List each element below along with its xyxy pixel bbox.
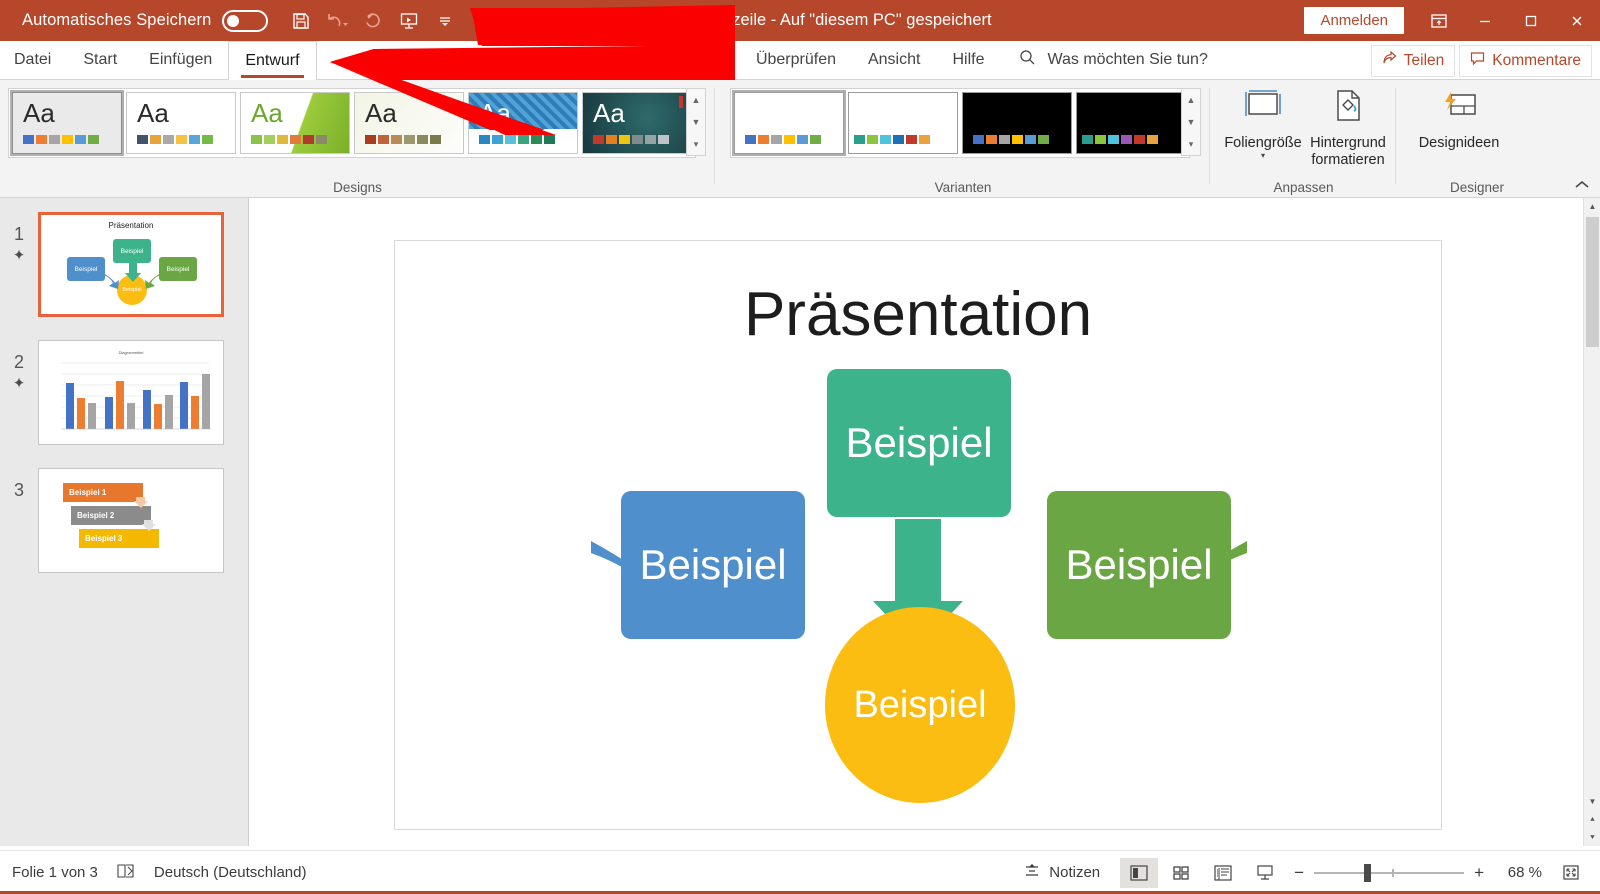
theme-aa-4: Aa: [479, 98, 511, 129]
spellcheck-icon[interactable]: [116, 862, 136, 884]
thumb2-chart: [39, 341, 224, 445]
normal-view-button[interactable]: [1120, 858, 1158, 888]
variant-thumb-3[interactable]: [1076, 92, 1186, 154]
language-indicator[interactable]: Deutsch (Deutschland): [154, 864, 307, 881]
minimize-icon[interactable]: [1462, 0, 1508, 41]
slide-size-icon: [1241, 86, 1285, 131]
thumb1-arrows: [41, 215, 224, 317]
variants-more-icon[interactable]: ▾: [1189, 133, 1194, 155]
autosave-toggle[interactable]: [222, 10, 268, 32]
ribbon-group-anpassen: Foliengröße ▾ Hintergrund formatieren An…: [1211, 80, 1396, 198]
redo-icon[interactable]: [356, 5, 390, 37]
comments-button[interactable]: Kommentare: [1459, 45, 1592, 77]
autosave-label: Automatisches Speichern: [22, 11, 211, 30]
format-background-label: Hintergrund formatieren: [1305, 135, 1391, 169]
slide-thumbnail-panel[interactable]: 1 ✦ Präsentation Beispiel Beispiel Beisp…: [0, 198, 249, 846]
tab-datei[interactable]: Datei: [0, 41, 67, 80]
theme-aa-3: Aa: [365, 98, 397, 129]
format-background-button[interactable]: Hintergrund formatieren: [1305, 86, 1391, 169]
slide-thumbnail-3[interactable]: Beispiel 1 Beispiel 2 Beispiel 3: [38, 468, 224, 573]
notes-button[interactable]: Notizen: [1023, 863, 1100, 883]
slide-shape-left[interactable]: Beispiel: [621, 491, 805, 639]
group-label-designs: Designs: [0, 180, 715, 195]
powerpoint-window: Automatisches Speichern pp-kopf-und-fuss…: [0, 0, 1600, 894]
slide-number-2: 2 ✦: [0, 340, 38, 445]
theme-swatches-5: [593, 135, 669, 144]
reading-view-button[interactable]: [1204, 858, 1242, 888]
thumb3-arrows: [39, 469, 224, 573]
tab-start[interactable]: Start: [67, 41, 133, 80]
scroll-up-icon[interactable]: ▲: [1584, 198, 1600, 215]
tab-ansicht[interactable]: Ansicht: [852, 41, 936, 80]
variant-thumb-2[interactable]: [962, 92, 1072, 154]
zoom-slider-handle[interactable]: [1364, 864, 1371, 882]
status-bar: Folie 1 von 3 Deutsch (Deutschland) Noti…: [0, 850, 1600, 894]
tab-uebergaenge-animationen[interactable]: ion: [687, 41, 740, 80]
zoom-slider[interactable]: [1314, 864, 1464, 882]
group-label-anpassen: Anpassen: [1211, 180, 1396, 195]
zoom-in-button[interactable]: +: [1474, 863, 1484, 883]
notes-label: Notizen: [1049, 864, 1100, 881]
design-ideas-icon: [1437, 86, 1481, 131]
collapse-ribbon-icon[interactable]: [1574, 178, 1590, 193]
title-bar: Automatisches Speichern pp-kopf-und-fuss…: [0, 0, 1600, 41]
slide-list-item-3[interactable]: 3 Beispiel 1 Beispiel 2 Beispiel 3: [0, 468, 249, 573]
theme-swatches-2: [251, 135, 327, 144]
tab-entwurf[interactable]: Entwurf: [228, 41, 316, 80]
themes-scroll-down-icon[interactable]: ▼: [692, 111, 701, 133]
share-button[interactable]: Teilen: [1371, 45, 1456, 77]
ribbon-group-varianten: ▲ ▼ ▾ Varianten: [716, 80, 1210, 198]
slideshow-button[interactable]: [1246, 858, 1284, 888]
theme-aa-2: Aa: [251, 98, 283, 129]
theme-swatches-3: [365, 135, 441, 144]
next-slide-icon[interactable]: ⯆: [1584, 829, 1600, 846]
design-ideas-label: Designideen: [1419, 135, 1500, 152]
tab-hilfe[interactable]: Hilfe: [936, 41, 1000, 80]
slide-size-label: Foliengröße: [1224, 135, 1301, 152]
previous-slide-icon[interactable]: ⯅: [1584, 811, 1600, 828]
quick-access-toolbar: [284, 5, 462, 37]
scrollbar-thumb[interactable]: [1586, 217, 1599, 347]
fit-to-window-button[interactable]: [1552, 858, 1590, 888]
slide-list-item-2[interactable]: 2 ✦ Diagrammtitel: [0, 340, 249, 445]
variants-scroll-down-icon[interactable]: ▼: [1187, 111, 1196, 133]
slide-sorter-button[interactable]: [1162, 858, 1200, 888]
current-slide[interactable]: Präsentation Beispiel Beispiel Beispiel …: [394, 240, 1442, 830]
start-slideshow-icon[interactable]: [392, 5, 426, 37]
slide-thumbnail-1[interactable]: Präsentation Beispiel Beispiel Beispiel …: [38, 212, 224, 317]
format-background-icon: [1328, 86, 1368, 131]
scroll-down-icon[interactable]: ▼: [1584, 793, 1600, 810]
themes-scroll-up-icon[interactable]: ▲: [692, 89, 701, 111]
save-icon[interactable]: [284, 5, 318, 37]
window-controls: Anmelden: [1304, 0, 1600, 41]
variants-scroll-up-icon[interactable]: ▲: [1187, 89, 1196, 111]
variant-swatches-1: [854, 135, 930, 144]
themes-gallery: Aa Aa Aa Aa: [8, 88, 696, 158]
zoom-out-button[interactable]: −: [1294, 863, 1304, 883]
theme-swatches-1: [137, 135, 213, 144]
ribbon-tabs: Datei Start Einfügen Entwurf ion Überprü…: [0, 41, 1600, 80]
variant-thumb-0[interactable]: [734, 92, 844, 154]
slide-shape-top[interactable]: Beispiel: [827, 369, 1011, 517]
ribbon-body: Aa Aa Aa Aa: [0, 80, 1600, 198]
variants-gallery-scroll[interactable]: ▲ ▼ ▾: [1181, 88, 1201, 156]
theme-thumb-4[interactable]: Aa: [468, 92, 578, 154]
theme-swatches-4: [479, 135, 555, 144]
slide-counter[interactable]: Folie 1 von 3: [12, 864, 98, 881]
tab-einfuegen[interactable]: Einfügen: [133, 41, 228, 80]
tell-me-search[interactable]: Was möchten Sie tun?: [1018, 48, 1207, 72]
search-icon: [1018, 48, 1037, 72]
close-icon[interactable]: [1554, 0, 1600, 41]
slide-thumbnail-2[interactable]: Diagrammtitel: [38, 340, 224, 445]
slide-shape-center[interactable]: Beispiel: [825, 607, 1015, 803]
theme-thumb-2[interactable]: Aa: [240, 92, 350, 154]
variant-thumb-1[interactable]: [848, 92, 958, 154]
maximize-icon[interactable]: [1508, 0, 1554, 41]
tab-actions: Teilen Kommentare: [1371, 41, 1592, 80]
theme-swatches-0: [23, 135, 99, 144]
variant-swatches-2: [973, 135, 1049, 144]
group-label-designer: Designer: [1397, 180, 1557, 195]
variants-gallery: [730, 88, 1190, 158]
theme-aa-0: Aa: [23, 98, 55, 129]
group-label-varianten: Varianten: [716, 180, 1210, 195]
slide-list-item-1[interactable]: 1 ✦ Präsentation Beispiel Beispiel Beisp…: [0, 212, 249, 317]
zoom-level-label: 68 %: [1494, 864, 1542, 881]
share-label: Teilen: [1404, 52, 1445, 70]
search-placeholder: Was möchten Sie tun?: [1047, 51, 1207, 69]
theme-thumb-0[interactable]: Aa: [12, 92, 122, 154]
theme-thumb-1[interactable]: Aa: [126, 92, 236, 154]
ribbon-display-options-icon[interactable]: [1416, 0, 1462, 41]
customize-qat-icon[interactable]: [428, 5, 462, 37]
share-icon: [1382, 51, 1397, 71]
slide-animation-star-icon: ✦: [0, 373, 38, 394]
slide-shape-right[interactable]: Beispiel: [1047, 491, 1231, 639]
slide-number-1: 1 ✦: [0, 212, 38, 317]
slide-editing-area[interactable]: Präsentation Beispiel Beispiel Beispiel …: [250, 198, 1590, 846]
ribbon-group-designer: Designideen Designer: [1397, 80, 1557, 198]
tab-ueberpruefen[interactable]: Überprüfen: [740, 41, 852, 80]
slide-number-3: 3: [0, 468, 38, 573]
ribbon-group-designs: Aa Aa Aa Aa: [0, 80, 715, 198]
theme-aa-5: Aa: [593, 98, 625, 129]
comments-label: Kommentare: [1492, 52, 1581, 70]
variant-swatches-3: [1082, 135, 1158, 144]
theme-thumb-3[interactable]: Aa: [354, 92, 464, 154]
slide-animation-star-icon: ✦: [0, 245, 38, 266]
chevron-down-icon[interactable]: ▾: [1261, 152, 1265, 160]
themes-gallery-scroll[interactable]: ▲ ▼ ▾: [686, 88, 706, 156]
notes-icon: [1023, 863, 1041, 883]
canvas-vertical-scrollbar[interactable]: ▲ ▼ ⯅ ⯆: [1583, 198, 1600, 846]
undo-icon[interactable]: [320, 5, 354, 37]
comment-icon: [1470, 51, 1485, 71]
slide-size-button[interactable]: Foliengröße ▾: [1217, 86, 1309, 160]
sign-in-button[interactable]: Anmelden: [1304, 7, 1404, 34]
variant-swatches-0: [745, 135, 821, 144]
design-ideas-button[interactable]: Designideen: [1407, 86, 1511, 152]
theme-thumb-5[interactable]: Aa: [582, 92, 692, 154]
theme-aa-1: Aa: [137, 98, 169, 129]
themes-more-icon[interactable]: ▾: [694, 133, 699, 155]
